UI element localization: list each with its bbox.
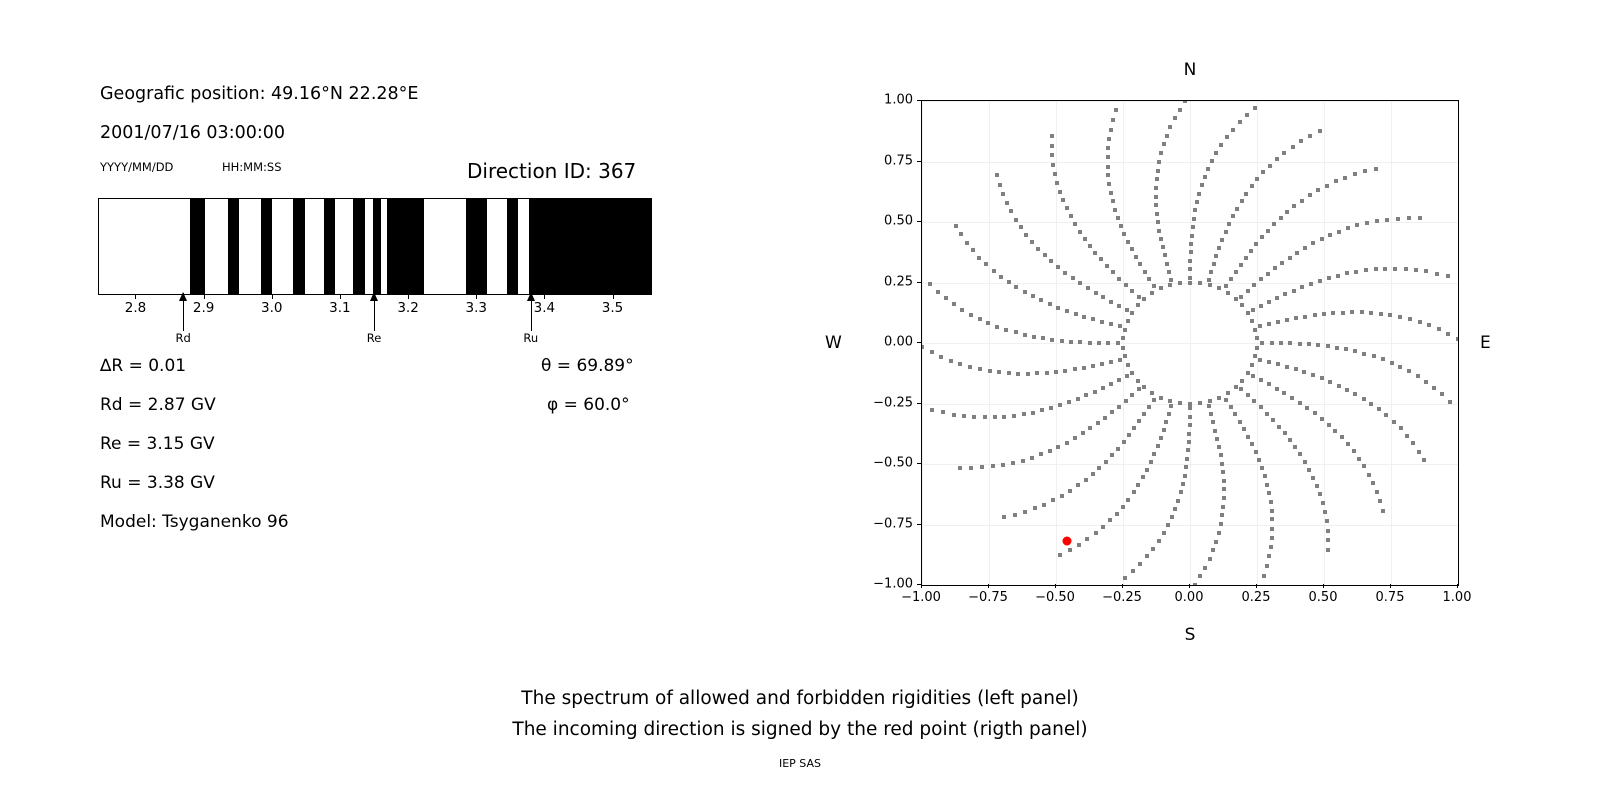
direction-grid-point [1313,411,1317,415]
direction-grid-point [978,367,982,371]
y-axis-tick-label: 0.00 [884,335,913,350]
direction-grid-point [1375,219,1379,223]
forbidden-band [387,199,424,294]
direction-grid-point [1231,214,1235,218]
direction-grid-point [1067,400,1071,404]
direction-grid-point [1138,562,1142,566]
direction-grid-point [1217,396,1221,400]
direction-grid-point [1082,315,1086,319]
x-axis-tick [1189,584,1190,588]
direction-grid-point [1130,311,1134,315]
direction-grid-point [1222,496,1226,500]
direction-grid-point [1156,220,1160,224]
direction-grid-point [1024,233,1028,237]
direction-grid-point [1269,545,1273,549]
direction-grid-point [1260,466,1264,470]
y-axis-tick [917,282,921,283]
y-axis-tick-label: 0.25 [884,274,913,289]
direction-grid-point [1167,412,1171,416]
direction-grid-point [1344,347,1348,351]
direction-grid-point [1325,184,1329,188]
direction-grid-point [1255,346,1259,350]
direction-grid-point [1124,283,1128,287]
direction-grid-point [1183,474,1187,478]
direction-grid-point [1399,426,1403,430]
direction-grid-point [1060,339,1064,343]
direction-grid-point [959,232,963,236]
direction-grid-point [1197,192,1201,196]
direction-grid-point [1303,246,1307,250]
forbidden-band [261,199,273,294]
direction-grid-point [1446,274,1450,278]
direction-grid-point [1328,380,1332,384]
x-axis-tick [1457,584,1458,588]
direction-grid-point [1170,515,1174,519]
direction-grid-point [1381,509,1385,513]
direction-grid-point [1337,230,1341,234]
rigidity-axis-tick-label: 3.3 [465,300,486,316]
direction-grid-point [1030,456,1034,460]
y-axis-tick-label: 0.75 [884,153,913,168]
rigidity-axis-tick-label: 3.2 [397,300,418,316]
direction-grid-point [1398,365,1402,369]
direction-grid-point [1207,404,1211,408]
direction-grid-point [1009,209,1013,213]
direction-grid-point [1130,247,1134,251]
direction-grid-point [1073,436,1077,440]
direction-grid-point [1123,354,1127,358]
direction-grid-point [1246,371,1250,375]
direction-grid-point [1219,143,1223,147]
direction-grid-point [1132,490,1136,494]
direction-grid-point [1178,108,1182,112]
direction-grid-point [930,408,934,412]
direction-grid-point [1311,373,1315,377]
direction-grid-point [998,183,1002,187]
direction-grid-point [1416,374,1420,378]
direction-grid-point [1147,405,1151,409]
forbidden-band [507,199,518,294]
direction-grid-point [1275,387,1279,391]
direction-grid-point [1267,300,1271,304]
direction-grid-point [1109,191,1113,195]
direction-grid-point [1155,212,1159,216]
direction-grid-point [1308,134,1312,138]
direction-grid-point [1031,294,1035,298]
direction-grid-point [1193,208,1197,212]
direction-grid-point [1219,522,1223,526]
direction-grid-point [1210,159,1214,163]
direction-grid-point [1229,405,1233,409]
direction-grid-point [1014,285,1018,289]
y-axis-tick-label: −0.75 [873,516,913,531]
direction-grid-point [1086,286,1090,290]
direction-grid-point [1198,281,1202,285]
direction-grid-point [1365,221,1369,225]
direction-grid-point [1181,482,1185,486]
direction-grid-point [1267,491,1271,495]
direction-grid-point [1316,343,1320,347]
direction-grid-point [1211,548,1215,552]
direction-grid-point [1408,317,1412,321]
forbidden-band [190,199,205,294]
direction-grid-point [1244,192,1248,196]
direction-grid-point [1325,519,1329,523]
forbidden-band [353,199,365,294]
direction-grid-point [1142,385,1146,389]
direction-grid-point [1109,360,1113,364]
direction-grid-point [1118,358,1122,362]
direction-grid-point [1078,281,1082,285]
direction-grid-point [1224,284,1228,288]
direction-grid-point [1157,539,1161,543]
direction-grid-point [1173,507,1177,511]
direction-grid-point [1294,316,1298,320]
direction-grid-point [1040,408,1044,412]
direction-grid-point [1189,250,1193,254]
direction-grid-point [988,369,992,373]
direction-grid-point [1250,363,1254,367]
direction-grid-point [1377,407,1381,411]
direction-grid-point [1154,186,1158,190]
direction-grid-point [1292,204,1296,208]
direction-grid-point [1214,540,1218,544]
direction-grid-point [1384,413,1388,417]
direction-grid-point [1051,163,1055,167]
param-re: Re = 3.15 GV [100,434,215,454]
direction-grid-point [972,415,976,419]
direction-grid-point [1355,223,1359,227]
direction-grid-point [1231,128,1235,132]
direction-grid-point [1050,144,1054,148]
direction-grid-point [1103,416,1107,420]
direction-grid-point [986,321,990,325]
direction-grid-point [1056,306,1060,310]
rigidity-axis-tick [204,295,205,299]
arrow-up-icon [370,292,378,301]
direction-grid-point [983,415,987,419]
direction-grid-point [1033,506,1037,510]
direction-grid-point [1048,449,1052,453]
caption-line-1: The spectrum of allowed and forbidden ri… [0,688,1600,709]
direction-grid-point [968,365,972,369]
forbidden-band [228,199,239,294]
direction-grid-point [1282,391,1286,395]
direction-grid-point [1192,217,1196,221]
direction-grid-point [1222,479,1226,483]
param-model: Model: Tsyganenko 96 [100,512,289,532]
direction-grid-point [1240,379,1244,383]
direction-grid-point [1063,271,1067,275]
direction-grid-point [1254,242,1258,246]
direction-grid-point [1378,499,1382,503]
direction-grid-point [1019,225,1023,229]
direction-grid-point [1100,362,1104,366]
direction-grid-point [1106,155,1110,159]
direction-grid-point [1320,417,1324,421]
direction-grid-point [1259,304,1263,308]
direction-grid-point [1303,460,1307,464]
direction-grid-point [1109,382,1113,386]
direction-grid-point [1183,100,1187,103]
gridline-horizontal [922,343,1458,344]
forbidden-band [466,199,488,294]
direction-grid-point [921,345,924,349]
direction-grid-point [993,415,997,419]
direction-grid-point [1050,134,1054,138]
param-theta: θ = 69.89° [541,356,634,376]
direction-grid-point [1014,218,1018,222]
direction-grid-point [1169,278,1173,282]
direction-grid-point [1061,198,1065,202]
direction-grid-point [1308,193,1312,197]
direction-grid-point [1326,344,1330,348]
direction-map-plot-area [921,100,1459,586]
direction-grid-point [1159,151,1163,155]
direction-grid-point [1422,458,1426,462]
direction-grid-point [1073,222,1077,226]
direction-grid-point [1381,357,1385,361]
direction-grid-point [1333,429,1337,433]
direction-grid-point [1121,505,1125,509]
direction-grid-point [1307,468,1311,472]
direction-grid-point [1262,574,1266,578]
x-axis-tick [921,584,922,588]
direction-grid-point [1137,419,1141,423]
direction-grid-point [1343,176,1347,180]
direction-grid-point [1149,460,1153,464]
direction-grid-point [1217,286,1221,290]
direction-id-label: Direction ID: 367 [467,159,636,183]
rigidity-axis-tick [135,295,136,299]
direction-grid-point [1100,320,1104,324]
y-axis-tick [917,221,921,222]
forbidden-band [373,199,381,294]
direction-grid-point [958,466,962,470]
direction-grid-point [1191,225,1195,229]
direction-grid-point [1106,173,1110,177]
direction-grid-point [1132,426,1136,430]
direction-grid-point [1221,470,1225,474]
direction-grid-point [1313,313,1317,317]
direction-grid-point [1279,341,1283,345]
direction-grid-point [1065,441,1069,445]
direction-grid-point [936,290,940,294]
direction-grid-point [1110,410,1114,414]
direction-grid-point [1309,282,1313,286]
direction-grid-point [1036,247,1040,251]
direction-grid-point [1050,153,1054,157]
direction-grid-point [1456,337,1459,341]
direction-grid-point [1118,324,1122,328]
direction-grid-point [1407,369,1411,373]
direction-grid-point [1065,206,1069,210]
direction-grid-point [1154,203,1158,207]
direction-grid-point [1123,328,1127,332]
direction-grid-point [1250,319,1254,323]
y-axis-tick-label: −0.50 [873,456,913,471]
direction-grid-point [1107,182,1111,186]
direction-grid-point [1337,384,1341,388]
direction-grid-point [928,282,932,286]
direction-grid-point [1322,312,1326,316]
direction-grid-point [1239,387,1243,391]
direction-grid-point [1275,157,1279,161]
direction-grid-point [1106,341,1110,345]
direction-grid-point [1137,295,1141,299]
direction-grid-point [1168,283,1172,287]
direction-grid-point [1188,406,1192,410]
direction-grid-point [1136,303,1140,307]
y-axis-tick [917,342,921,343]
direction-grid-point [1209,270,1213,274]
direction-grid-point [1288,341,1292,345]
x-axis-tick-label: 0.00 [1175,590,1204,605]
direction-grid-point [1195,200,1199,204]
direction-grid-point [1295,251,1299,255]
direction-grid-point [1303,315,1307,319]
direction-grid-point [1200,183,1204,187]
direction-grid-point [1326,529,1330,533]
direction-grid-point [1048,302,1052,306]
direction-grid-point [1246,393,1250,397]
direction-grid-point [1270,536,1274,540]
geographic-position-label: Geografic position: 49.16°N 22.28°E [100,84,418,104]
direction-grid-point [1068,548,1072,552]
direction-grid-point [1345,388,1349,392]
compass-label-west: W [825,333,842,353]
direction-grid-point [1435,272,1439,276]
direction-grid-point [1026,372,1030,376]
y-axis-tick-label: 0.50 [884,214,913,229]
direction-grid-point [1130,393,1134,397]
direction-grid-point [1414,268,1418,272]
x-axis-tick [1055,584,1056,588]
direction-grid-point [1060,494,1064,498]
direction-grid-point [1245,113,1249,117]
direction-grid-point [1088,244,1092,248]
direction-grid-point [1299,139,1303,143]
direction-grid-point [1094,531,1098,535]
rigidity-spectrum-bar [98,198,652,295]
direction-grid-point [1253,106,1257,110]
direction-grid-point [1239,295,1243,299]
rigidity-axis-tick-label: 3.1 [329,300,350,316]
direction-grid-point [1350,310,1354,314]
direction-grid-point [1316,188,1320,192]
direction-grid-point [1121,336,1125,340]
direction-grid-point [1255,177,1259,181]
direction-grid-point [1071,276,1075,280]
direction-grid-point [1318,279,1322,283]
direction-grid-point [1257,458,1261,462]
direction-grid-point [1208,283,1212,287]
direction-grid-point [1058,403,1062,407]
direction-grid-point [1043,253,1047,257]
direction-grid-point [1198,574,1202,578]
direction-grid-point [1126,363,1130,367]
direction-grid-point [1114,108,1118,112]
direction-grid-point [1188,267,1192,271]
direction-grid-point [1427,323,1431,327]
direction-grid-point [1265,412,1269,416]
direction-grid-point [1049,406,1053,410]
direction-grid-point [1234,297,1238,301]
direction-grid-point [1372,354,1376,358]
direction-grid-point [1203,175,1207,179]
direction-grid-point [1320,376,1324,380]
x-axis-tick [1390,584,1391,588]
x-axis-tick [988,584,989,588]
compass-label-north: N [1184,60,1197,80]
direction-map-panel: N S W E −1.00−0.75−0.50−0.250.000.250.50… [820,50,1520,670]
direction-grid-point [1340,435,1344,439]
direction-grid-point [1417,450,1421,454]
direction-grid-point [1283,292,1287,296]
direction-grid-point [1021,459,1025,463]
y-axis-tick-label: 1.00 [884,93,913,108]
direction-grid-point [1109,322,1113,326]
direction-grid-point [1091,364,1095,368]
direction-grid-point [1226,291,1230,295]
direction-grid-point [1117,277,1121,281]
direction-grid-point [1176,499,1180,503]
direction-grid-point [1383,267,1387,271]
direction-grid-point [1253,328,1257,332]
rigidity-axis-tick-label: 3.5 [602,300,623,316]
direction-grid-point [1155,177,1159,181]
direction-grid-point [1022,412,1026,416]
rigidity-spectrum-axis: 2.82.93.03.13.23.33.43.5RdReRu [98,295,652,345]
direction-grid-point [1298,342,1302,346]
direction-grid-point [1001,192,1005,196]
direction-grid-point [1032,335,1036,339]
direction-grid-point [1122,440,1126,444]
direction-grid-point [1251,308,1255,312]
direction-grid-point [1246,289,1250,293]
param-phi: φ = 60.0° [547,395,630,415]
direction-grid-point [1117,304,1121,308]
direction-grid-point [997,370,1001,374]
y-axis-tick [917,403,921,404]
direction-grid-point [1234,270,1238,274]
direction-grid-point [1073,367,1077,371]
direction-grid-point [1142,297,1146,301]
direction-grid-point [1016,372,1020,376]
direction-grid-point [1161,245,1165,249]
direction-grid-point [1136,379,1140,383]
left-panel: Geografic position: 49.16°N 22.28°E 2001… [0,0,760,680]
direction-grid-point [1084,478,1088,482]
direction-grid-point [1137,387,1141,391]
direction-grid-point [1390,361,1394,365]
direction-grid-point [1113,208,1117,212]
direction-grid-point [1151,547,1155,551]
direction-grid-point [1305,406,1309,410]
incoming-direction-point [1062,537,1071,546]
direction-grid-point [1078,340,1082,344]
direction-grid-point [1162,428,1166,432]
direction-grid-point [1134,255,1138,259]
direction-grid-point [1111,270,1115,274]
direction-grid-point [1385,218,1389,222]
direction-grid-point [960,308,964,312]
direction-grid-point [1229,277,1233,281]
direction-grid-point [1407,216,1411,220]
direction-grid-point [1111,199,1115,203]
direction-grid-point [1076,483,1080,487]
direction-grid-point [1077,543,1081,547]
